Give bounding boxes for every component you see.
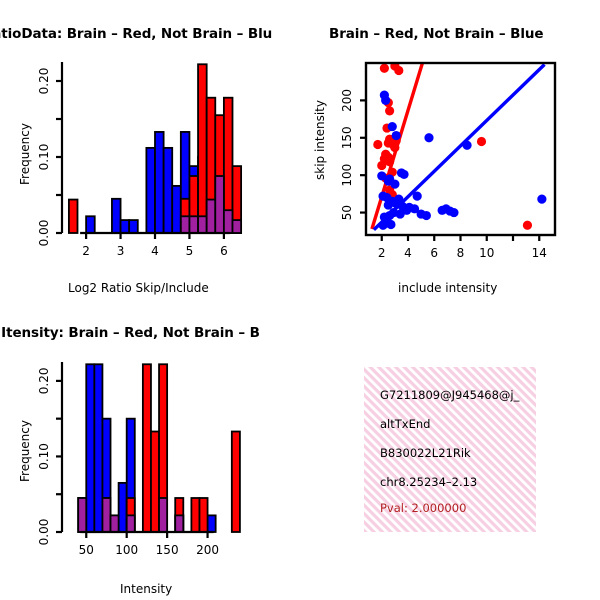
- gene-info-box: G7211809@J945468@j_ altTxEnd B830022L21R…: [364, 367, 536, 532]
- scatter-xlabel: include intensity: [398, 281, 497, 295]
- panel-intensity-histogram: ne Itensity: Brain – Red, Not Brain – B …: [0, 300, 300, 600]
- scatter-x-tick-label: 6: [430, 246, 438, 260]
- scatter-point: [422, 211, 431, 220]
- histogram-bar: [86, 216, 95, 233]
- info-line-locus: chr8.25234–2.13: [380, 475, 477, 489]
- ratio-histogram-xlabel: Log2 Ratio Skip/Include: [68, 281, 209, 295]
- scatter-point: [449, 208, 458, 217]
- scatter-x-tick-label: 4: [404, 246, 412, 260]
- info-line-gene-symbol: B830022L21Rik: [380, 446, 471, 460]
- intensity-histogram-y-tick-label: 0.10: [37, 443, 51, 470]
- scatter-x-tick-label: 2: [378, 246, 386, 260]
- histogram-bar-overlap: [224, 210, 233, 233]
- histogram-bar: [119, 483, 127, 532]
- scatter-point: [394, 66, 403, 75]
- scatter-point: [388, 122, 397, 131]
- histogram-bar: [94, 364, 102, 532]
- histogram-bar-overlap: [159, 498, 167, 532]
- scatter-point: [537, 195, 546, 204]
- histogram-bar-overlap: [189, 216, 198, 233]
- scatter-point: [373, 140, 382, 149]
- intensity-histogram-bars: [78, 364, 240, 532]
- intensity-histogram-x-tick-label: 150: [156, 543, 179, 557]
- scatter-point: [378, 221, 387, 230]
- scatter-point: [523, 221, 532, 230]
- histogram-bar: [172, 186, 181, 233]
- histogram-bar: [86, 364, 94, 532]
- histogram-bar-overlap: [102, 498, 110, 532]
- scatter-point: [384, 200, 393, 209]
- histogram-bar: [129, 220, 138, 233]
- histogram-bar: [69, 200, 78, 233]
- scatter-point: [386, 220, 395, 229]
- scatter-point: [390, 180, 399, 189]
- histogram-bar: [232, 432, 240, 532]
- histogram-bar-overlap: [111, 515, 119, 532]
- ratio-histogram-x-tick-label: 3: [117, 244, 125, 258]
- scatter-point: [392, 131, 401, 140]
- ratio-histogram-x-tick-label: 2: [82, 244, 90, 258]
- scatter-point: [413, 192, 422, 201]
- intensity-histogram-x-tick-label: 100: [115, 543, 138, 557]
- histogram-bar: [199, 498, 207, 532]
- histogram-bar: [121, 220, 130, 233]
- info-line-pval: Pval: 2.000000: [380, 501, 466, 515]
- histogram-bar: [198, 64, 207, 233]
- histogram-bar: [112, 199, 121, 233]
- scatter-y-tick-label: 100: [340, 164, 354, 187]
- scatter-point: [424, 133, 433, 142]
- ratio-histogram-y-tick-label: 0.10: [37, 144, 51, 171]
- ratio-histogram-plot: 0.000.100.2023456: [0, 0, 300, 270]
- panel-info: G7211809@J945468@j_ altTxEnd B830022L21R…: [300, 300, 600, 600]
- histogram-bar: [208, 515, 216, 532]
- histogram-bar-overlap: [78, 498, 86, 532]
- histogram-bar: [151, 432, 159, 532]
- panel-scatter: Brain – Red, Not Brain – Blue skip inten…: [300, 0, 600, 305]
- histogram-bar-overlap: [233, 220, 242, 233]
- scatter-point: [396, 209, 405, 218]
- scatter-y-tick-label: 50: [340, 205, 354, 220]
- scatter-point: [381, 96, 390, 105]
- intensity-histogram-plot: 0.000.100.2050100150200: [0, 300, 300, 570]
- scatter-y-tick-label: 150: [340, 126, 354, 149]
- intensity-histogram-x-tick-label: 50: [79, 543, 94, 557]
- scatter-y-tick-label: 200: [340, 89, 354, 112]
- scatter-point: [377, 161, 386, 170]
- scatter-plot: 5010015020024681014: [300, 0, 600, 270]
- ratio-histogram-x-tick-label: 5: [186, 244, 194, 258]
- scatter-data-area: [372, 61, 547, 229]
- histogram-bar: [146, 148, 155, 233]
- scatter-point: [385, 106, 394, 115]
- ratio-histogram-bars: [69, 64, 241, 233]
- scatter-point: [399, 170, 408, 179]
- scatter-x-tick-label: 10: [479, 246, 494, 260]
- scatter-point: [390, 143, 399, 152]
- histogram-bar-overlap: [181, 216, 190, 233]
- scatter-point: [385, 157, 394, 166]
- scatter-point: [380, 64, 389, 73]
- scatter-point: [477, 137, 486, 146]
- histogram-bar: [191, 498, 199, 532]
- ratio-histogram-x-tick-label: 4: [151, 244, 159, 258]
- histogram-bar-overlap: [127, 515, 135, 532]
- ratio-histogram-y-tick-label: 0.20: [37, 68, 51, 95]
- intensity-histogram-xlabel: Intensity: [120, 582, 172, 596]
- histogram-bar: [164, 148, 173, 233]
- scatter-x-tick-label: 14: [532, 246, 547, 260]
- info-line-event-type: altTxEnd: [380, 417, 430, 431]
- intensity-histogram-x-tick-label: 200: [196, 543, 219, 557]
- scatter-x-tick-label: 8: [457, 246, 465, 260]
- ratio-histogram-x-tick-label: 6: [220, 244, 228, 258]
- histogram-bar-overlap: [198, 216, 207, 233]
- ratio-histogram-y-tick-label: 0.00: [37, 220, 51, 247]
- histogram-bar-overlap: [175, 515, 183, 532]
- scatter-point: [462, 141, 471, 150]
- histogram-bar-overlap: [215, 176, 224, 233]
- intensity-histogram-y-tick-label: 0.00: [37, 519, 51, 546]
- plot-page: RatioData: Brain – Red, Not Brain – Blu …: [0, 0, 600, 600]
- info-line-splice-id: G7211809@J945468@j_: [380, 388, 519, 402]
- histogram-bar-overlap: [207, 200, 216, 233]
- histogram-bar: [155, 132, 164, 233]
- histogram-bar: [143, 364, 151, 532]
- intensity-histogram-y-tick-label: 0.20: [37, 368, 51, 395]
- panel-ratio-histogram: RatioData: Brain – Red, Not Brain – Blu …: [0, 0, 300, 305]
